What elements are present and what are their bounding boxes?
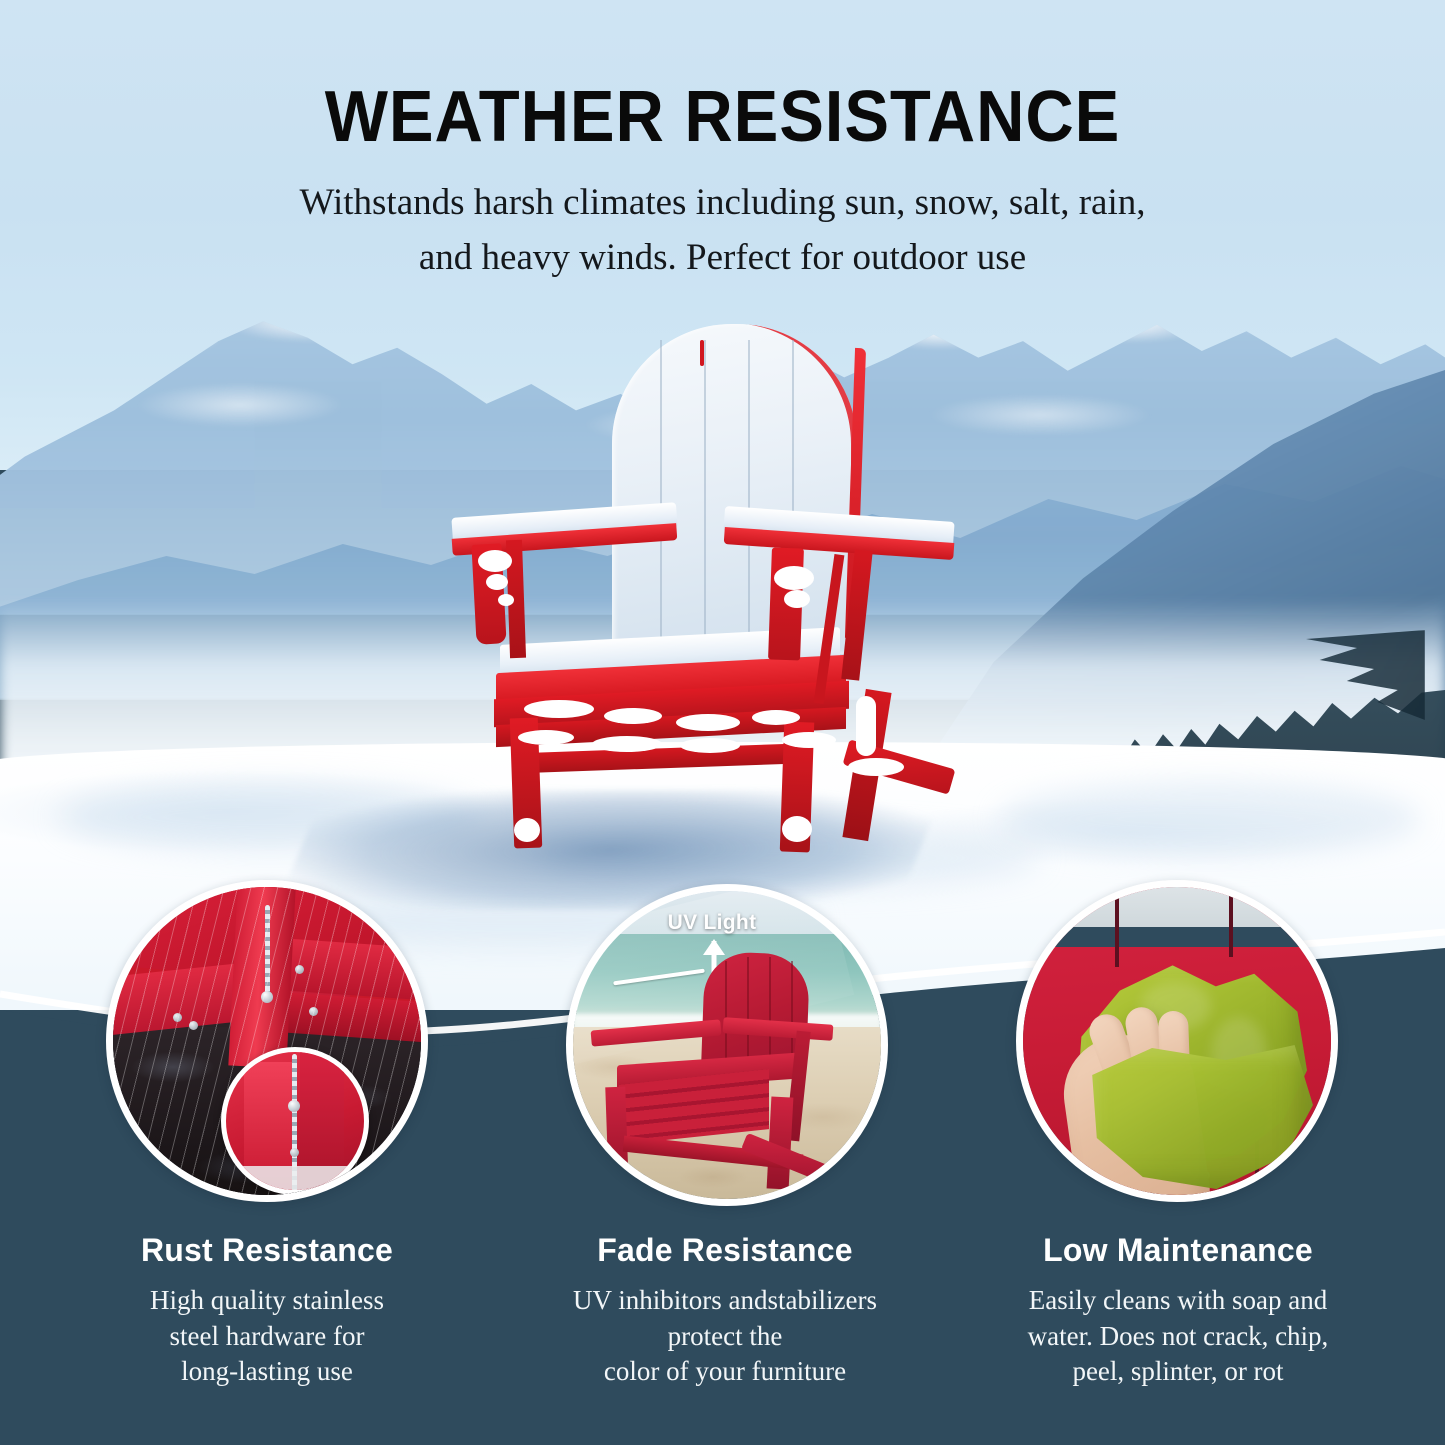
chair-stretcher	[530, 743, 810, 773]
feature-image-fade-resistance: UV Light	[566, 884, 888, 1206]
feature-text-rust-resistance: Rust Resistance High quality stainless s…	[52, 1232, 482, 1390]
feature-title: Rust Resistance	[52, 1232, 482, 1269]
subtitle-line-1: Withstands harsh climates including sun,…	[223, 176, 1223, 231]
feature-desc-line-1: High quality stainless	[52, 1283, 482, 1319]
hero-product-chair	[452, 318, 952, 838]
feature-title: Fade Resistance	[510, 1232, 940, 1269]
feature-description: Easily cleans with soap and water. Does …	[963, 1283, 1393, 1390]
feature-text-fade-resistance: Fade Resistance UV inhibitors andstabili…	[510, 1232, 940, 1390]
feature-description: High quality stainless steel hardware fo…	[52, 1283, 482, 1390]
chair-backrest	[612, 324, 857, 654]
feature-desc-line-3: peel, splinter, or rot	[963, 1354, 1393, 1390]
feature-text-low-maintenance: Low Maintenance Easily cleans with soap …	[963, 1232, 1393, 1390]
feature-desc-line-3: color of your furniture	[510, 1354, 940, 1390]
teal-strip	[1016, 927, 1338, 947]
feature-desc-line-3: long-lasting use	[52, 1354, 482, 1390]
chain-ball-closeup	[288, 1100, 300, 1112]
page-title: WEATHER RESISTANCE	[51, 76, 1395, 158]
page-subtitle: Withstands harsh climates including sun,…	[223, 176, 1223, 286]
feature-desc-line-2: steel hardware for	[52, 1319, 482, 1355]
feature-desc-line-1: UV inhibitors andstabilizers	[510, 1283, 940, 1319]
infographic-root: WEATHER RESISTANCE Withstands harsh clim…	[0, 0, 1445, 1445]
subtitle-line-2: and heavy winds. Perfect for outdoor use	[223, 231, 1223, 286]
feature-image-rust-resistance	[106, 880, 428, 1202]
uv-light-label: UV Light	[627, 911, 797, 935]
feature-image-low-maintenance	[1016, 880, 1338, 1202]
feature-description: UV inhibitors andstabilizers protect the…	[510, 1283, 940, 1390]
feature-desc-line-2: water. Does not crack, chip,	[963, 1319, 1393, 1355]
weathered-wood-strip	[1016, 881, 1338, 933]
chair-back-detail	[700, 340, 704, 366]
feature-title: Low Maintenance	[963, 1232, 1393, 1269]
feature-desc-line-2: protect the	[510, 1319, 940, 1355]
feature-desc-line-1: Easily cleans with soap and	[963, 1283, 1393, 1319]
hardware-magnifier-inset	[221, 1047, 369, 1195]
screw-icon	[290, 1148, 299, 1157]
